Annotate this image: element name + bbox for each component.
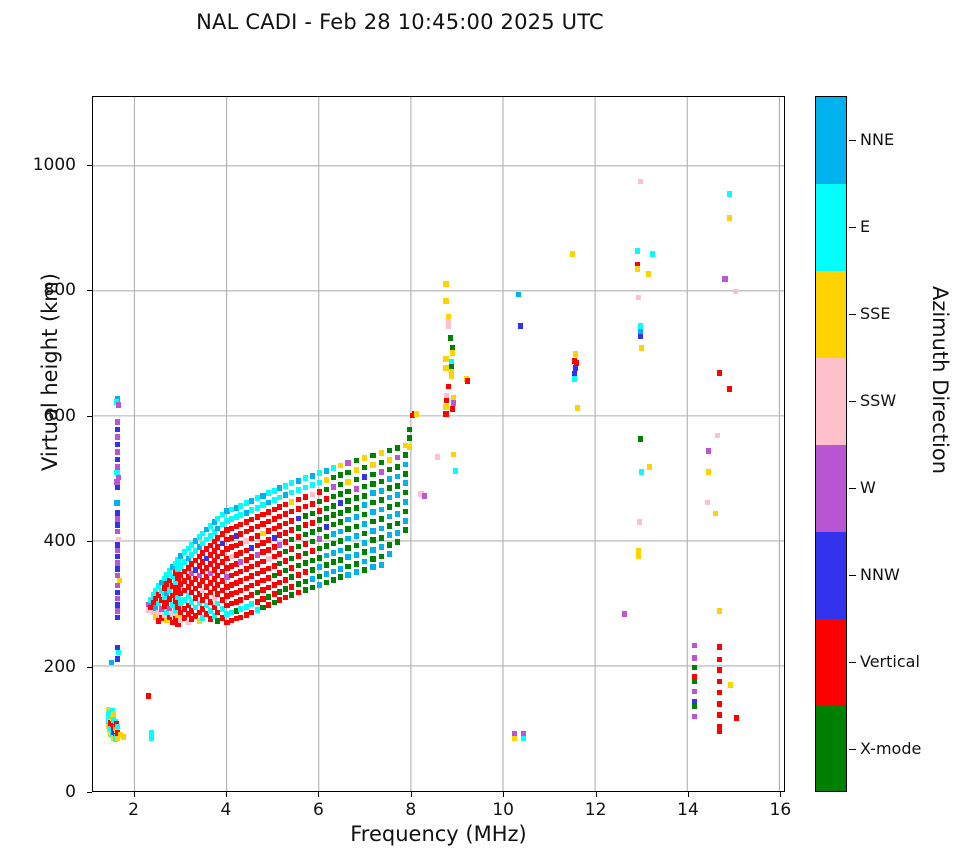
ionogram-figure: NAL CADI - Feb 28 10:45:00 2025 UTC 2468… <box>0 0 958 857</box>
data-point <box>283 558 288 564</box>
plot-area <box>92 96 785 792</box>
data-point <box>238 512 243 518</box>
data-point <box>338 538 343 544</box>
y-tick <box>87 416 92 417</box>
data-point <box>646 271 651 277</box>
data-point <box>453 468 458 474</box>
data-point <box>345 479 350 485</box>
data-point <box>362 455 367 461</box>
data-point <box>303 485 308 491</box>
colorbar-label: SSE <box>860 304 890 323</box>
data-point <box>324 487 329 493</box>
data-point <box>283 539 288 545</box>
data-point <box>266 547 271 553</box>
data-point <box>403 480 408 486</box>
data-point <box>387 457 392 463</box>
data-point <box>111 711 116 717</box>
data-point <box>296 590 301 596</box>
data-point <box>451 452 456 458</box>
data-point <box>331 465 336 471</box>
data-point <box>303 560 308 566</box>
data-point <box>289 490 294 496</box>
data-point <box>647 464 652 470</box>
data-point <box>115 529 120 535</box>
data-point <box>345 460 350 466</box>
data-point <box>403 471 408 477</box>
x-tick <box>688 792 689 797</box>
data-point <box>331 541 336 547</box>
data-point <box>272 563 277 569</box>
data-point <box>345 554 350 560</box>
data-point <box>266 602 271 608</box>
data-point <box>345 526 350 532</box>
data-point <box>362 493 367 499</box>
x-tick <box>226 792 227 797</box>
data-point <box>518 323 523 329</box>
data-point <box>638 179 643 185</box>
data-point <box>715 433 720 439</box>
data-point <box>244 585 249 591</box>
data-point <box>249 601 254 607</box>
data-point <box>362 512 367 518</box>
data-point <box>266 490 271 496</box>
data-point <box>277 495 282 501</box>
data-point <box>296 497 301 503</box>
colorbar-band <box>816 532 846 620</box>
data-point <box>303 579 308 585</box>
data-point <box>345 536 350 542</box>
data-point <box>395 474 400 480</box>
data-point <box>303 569 308 575</box>
colorbar-band <box>816 97 846 185</box>
x-tick-label: 8 <box>381 800 441 820</box>
data-point <box>692 689 697 695</box>
data-point <box>446 384 451 390</box>
data-point <box>238 550 243 556</box>
data-point <box>324 553 329 559</box>
data-point <box>310 492 315 498</box>
data-point <box>115 656 120 662</box>
data-point <box>296 478 301 484</box>
data-point <box>370 453 375 459</box>
data-point <box>444 398 449 404</box>
colorbar-tick <box>849 662 856 663</box>
data-point <box>266 575 271 581</box>
data-point <box>717 657 722 663</box>
data-point <box>370 556 375 562</box>
data-point <box>354 505 359 511</box>
data-point <box>345 564 350 570</box>
x-tick <box>503 792 504 797</box>
data-point <box>362 567 367 573</box>
data-point <box>324 515 329 521</box>
data-point <box>362 559 367 565</box>
data-point <box>370 490 375 496</box>
data-point <box>266 537 271 543</box>
y-tick-label: 1000 <box>12 155 76 175</box>
data-point <box>370 547 375 553</box>
data-point <box>266 528 271 534</box>
data-point <box>338 557 343 563</box>
data-point <box>331 577 336 583</box>
data-point <box>403 452 408 458</box>
data-point <box>379 562 384 568</box>
data-point <box>338 566 343 572</box>
data-point <box>705 500 710 506</box>
x-tick-label: 4 <box>196 800 256 820</box>
data-point <box>260 493 265 499</box>
data-point <box>521 736 526 742</box>
data-point <box>395 483 400 489</box>
data-point <box>272 544 277 550</box>
data-point <box>303 551 308 557</box>
data-point <box>370 500 375 506</box>
data-point <box>395 492 400 498</box>
data-point <box>272 516 277 522</box>
data-point <box>244 548 249 554</box>
data-point <box>317 546 322 552</box>
data-point <box>272 573 277 579</box>
data-point <box>443 356 448 362</box>
x-axis-label: Frequency (MHz) <box>92 822 785 846</box>
data-point <box>362 540 367 546</box>
data-point <box>324 534 329 540</box>
data-point <box>379 507 384 513</box>
data-point <box>317 499 322 505</box>
data-point <box>238 578 243 584</box>
data-point <box>115 583 120 589</box>
data-point <box>260 568 265 574</box>
x-tick <box>411 792 412 797</box>
data-point <box>379 497 384 503</box>
data-point <box>255 571 260 577</box>
data-point <box>345 517 350 523</box>
data-point <box>303 513 308 519</box>
data-point <box>115 434 120 440</box>
data-point <box>310 539 315 545</box>
data-point <box>244 519 249 525</box>
x-tick <box>596 792 597 797</box>
data-point <box>115 608 120 614</box>
colorbar-band <box>816 271 846 359</box>
data-point <box>387 467 392 473</box>
colorbar-band <box>816 619 846 707</box>
data-point <box>283 586 288 592</box>
data-point <box>512 736 517 742</box>
data-point <box>345 572 350 578</box>
data-point <box>717 712 722 718</box>
data-point <box>733 289 738 295</box>
data-point <box>354 467 359 473</box>
data-point <box>238 588 243 594</box>
data-point <box>277 570 282 576</box>
data-point <box>277 504 282 510</box>
data-point <box>296 516 301 522</box>
data-point <box>370 462 375 468</box>
data-point <box>260 549 265 555</box>
data-point <box>303 475 308 481</box>
data-point <box>443 365 448 371</box>
data-point <box>283 568 288 574</box>
colorbar-band <box>816 706 846 792</box>
data-point <box>403 518 408 524</box>
colorbar-tick <box>849 140 856 141</box>
data-point <box>283 492 288 498</box>
data-point <box>370 509 375 515</box>
x-tick-label: 2 <box>104 800 164 820</box>
data-point <box>387 532 392 538</box>
data-point <box>395 502 400 508</box>
data-point <box>717 608 722 614</box>
data-point <box>260 502 265 508</box>
data-point <box>296 572 301 578</box>
data-point <box>338 519 343 525</box>
data-point <box>249 498 254 504</box>
data-point <box>115 449 120 455</box>
data-point <box>310 567 315 573</box>
data-point <box>338 529 343 535</box>
data-point <box>238 615 243 621</box>
data-point <box>249 507 254 513</box>
data-point <box>639 469 644 475</box>
data-point <box>244 576 249 582</box>
data-point <box>255 495 260 501</box>
data-point <box>296 487 301 493</box>
data-point <box>324 571 329 577</box>
data-point <box>146 693 151 699</box>
data-point <box>317 574 322 580</box>
data-point <box>331 512 336 518</box>
data-point <box>317 582 322 588</box>
data-point <box>310 576 315 582</box>
data-point <box>109 660 114 666</box>
data-point <box>255 514 260 520</box>
data-point <box>272 535 277 541</box>
data-point <box>354 514 359 520</box>
data-point <box>116 402 121 408</box>
data-point <box>338 482 343 488</box>
data-point <box>451 400 456 406</box>
y-tick-label: 0 <box>12 782 76 802</box>
colorbar-tick <box>849 314 856 315</box>
data-point <box>638 334 643 340</box>
data-point <box>717 370 722 376</box>
data-point <box>296 544 301 550</box>
data-point <box>115 419 120 425</box>
data-point <box>717 667 722 673</box>
data-point <box>338 548 343 554</box>
data-point <box>338 463 343 469</box>
data-point <box>317 555 322 561</box>
data-point <box>331 522 336 528</box>
data-point <box>249 583 254 589</box>
data-point <box>362 474 367 480</box>
data-point <box>516 292 521 298</box>
data-point <box>244 604 249 610</box>
data-point <box>244 529 249 535</box>
data-point <box>260 512 265 518</box>
data-point <box>115 485 120 491</box>
figure-title: NAL CADI - Feb 28 10:45:00 2025 UTC <box>0 10 800 34</box>
data-point <box>395 539 400 545</box>
data-point <box>303 541 308 547</box>
data-point <box>403 527 408 533</box>
data-point <box>266 585 271 591</box>
data-point <box>296 581 301 587</box>
data-point <box>244 510 249 516</box>
colorbar-band <box>816 184 846 272</box>
data-point <box>403 499 408 505</box>
data-point <box>414 411 419 417</box>
x-tick <box>134 792 135 797</box>
data-point <box>296 525 301 531</box>
colorbar-label: NNE <box>860 130 894 149</box>
data-point <box>255 543 260 549</box>
data-point <box>331 484 336 490</box>
data-point <box>244 557 249 563</box>
data-point <box>362 521 367 527</box>
data-point <box>395 445 400 451</box>
data-point <box>260 540 265 546</box>
data-point <box>443 411 448 417</box>
data-point <box>407 435 412 441</box>
data-point <box>277 532 282 538</box>
data-point <box>324 543 329 549</box>
data-point <box>422 493 427 499</box>
data-point <box>283 502 288 508</box>
data-point <box>727 215 732 221</box>
data-point <box>310 473 315 479</box>
data-point <box>115 510 120 516</box>
data-point <box>289 480 294 486</box>
data-point <box>115 427 120 433</box>
data-point <box>692 665 697 671</box>
data-point <box>289 509 294 515</box>
data-point <box>450 406 455 412</box>
data-point <box>244 500 249 506</box>
data-point <box>692 704 697 710</box>
data-point <box>260 605 265 611</box>
data-point <box>244 538 249 544</box>
data-point <box>692 714 697 720</box>
data-point <box>283 511 288 517</box>
data-point <box>310 520 315 526</box>
data-point <box>244 595 249 601</box>
data-point <box>717 701 722 707</box>
y-tick-label: 200 <box>12 657 76 677</box>
data-point <box>407 427 412 433</box>
data-point <box>635 266 640 272</box>
data-point <box>115 522 120 528</box>
data-point <box>289 499 294 505</box>
data-point <box>635 248 640 254</box>
data-point <box>692 655 697 661</box>
data-point <box>317 508 322 514</box>
data-point <box>244 612 249 618</box>
data-point <box>277 597 282 603</box>
data-point <box>370 472 375 478</box>
data-point <box>238 606 243 612</box>
colorbar-label: E <box>860 217 870 236</box>
data-point <box>115 566 120 572</box>
data-point <box>272 554 277 560</box>
data-point <box>622 611 627 617</box>
x-tick <box>318 792 319 797</box>
data-point <box>403 490 408 496</box>
data-point <box>260 559 265 565</box>
data-point <box>379 450 384 456</box>
data-point <box>387 523 392 529</box>
data-point <box>249 592 254 598</box>
y-tick <box>87 792 92 793</box>
data-point <box>387 504 392 510</box>
data-point <box>650 251 655 257</box>
data-point <box>238 531 243 537</box>
data-point <box>370 528 375 534</box>
data-point <box>354 477 359 483</box>
colorbar-tick <box>849 749 856 750</box>
data-point <box>283 595 288 601</box>
data-point <box>706 448 711 454</box>
data-point <box>249 554 254 560</box>
data-point <box>249 526 254 532</box>
data-point <box>395 521 400 527</box>
data-point <box>331 503 336 509</box>
data-point <box>260 531 265 537</box>
data-point <box>289 584 294 590</box>
data-point <box>403 509 408 515</box>
data-point <box>345 507 350 513</box>
data-point <box>116 650 121 656</box>
data-point <box>727 386 732 392</box>
data-point <box>727 191 732 197</box>
data-point <box>255 599 260 605</box>
data-point <box>324 496 329 502</box>
data-point <box>272 526 277 532</box>
data-point <box>692 643 697 649</box>
colorbar-band <box>816 445 846 533</box>
data-point <box>713 511 718 517</box>
data-point <box>345 498 350 504</box>
data-point <box>317 564 322 570</box>
data-point <box>443 281 448 287</box>
colorbar-label: X-mode <box>860 739 921 758</box>
data-point <box>283 530 288 536</box>
data-point <box>637 519 642 525</box>
data-point <box>338 574 343 580</box>
data-point <box>266 500 271 506</box>
data-point <box>435 454 440 460</box>
data-point <box>387 448 392 454</box>
y-tick <box>87 290 92 291</box>
data-point <box>277 542 282 548</box>
data-point <box>395 530 400 536</box>
data-point <box>303 494 308 500</box>
data-point <box>387 542 392 548</box>
data-point <box>310 548 315 554</box>
colorbar-tick <box>849 227 856 228</box>
data-point <box>114 500 119 506</box>
data-point <box>283 521 288 527</box>
data-point <box>345 545 350 551</box>
colorbar-title: Azimuth Direction <box>928 230 952 530</box>
data-point <box>115 554 120 560</box>
data-point <box>450 350 455 356</box>
data-point <box>387 514 392 520</box>
data-point <box>331 559 336 565</box>
data-point <box>296 563 301 569</box>
data-point <box>249 610 254 616</box>
